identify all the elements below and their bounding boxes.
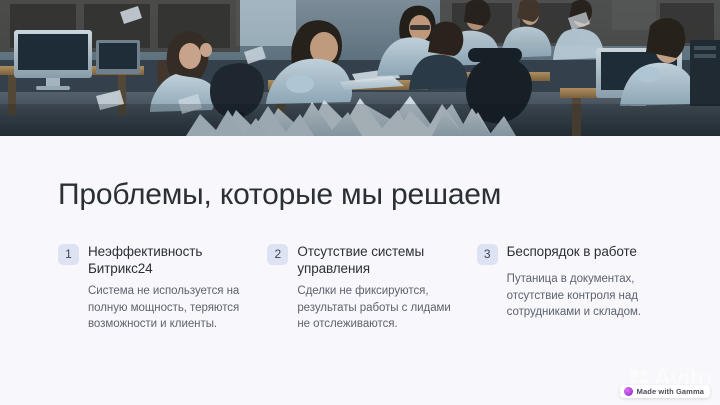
made-with-gamma-badge[interactable]: Made with Gamma [620,385,710,398]
page-title: Проблемы, которые мы решаем [58,178,501,212]
problem-number-badge-2: 2 [267,244,288,265]
problem-body-2: Сделки не фиксируются, результаты работы… [297,283,458,333]
problem-title-2: Отсутствие системы управления [297,243,458,277]
problem-number-badge-3: 3 [477,244,498,265]
problem-column-2: 2 Отсутствие системы управления Сделки н… [267,243,458,333]
problem-header-3: 3 Беспорядок в работе [477,243,668,265]
problem-columns: 1 Неэффективность Битрикс24 Система не и… [58,243,668,333]
gamma-dot-icon [624,387,633,396]
problem-title-3: Беспорядок в работе [507,243,637,260]
problem-title-1: Неэффективность Битрикс24 [88,243,249,277]
problem-body-3: Путаница в документах, отсутствие контро… [507,271,668,321]
problem-column-1: 1 Неэффективность Битрикс24 Система не и… [58,243,249,333]
problem-number-badge-1: 1 [58,244,79,265]
problem-body-1: Система не используется на полную мощнос… [88,283,249,333]
gamma-label: Made with Gamma [637,387,704,396]
problem-column-3: 3 Беспорядок в работе Путаница в докумен… [477,243,668,333]
office-photo-icon [0,0,720,136]
problem-header-2: 2 Отсутствие системы управления [267,243,458,277]
slide: Проблемы, которые мы решаем 1 Неэффектив… [0,0,720,405]
problem-header-1: 1 Неэффективность Битрикс24 [58,243,249,277]
hero-image [0,0,720,136]
